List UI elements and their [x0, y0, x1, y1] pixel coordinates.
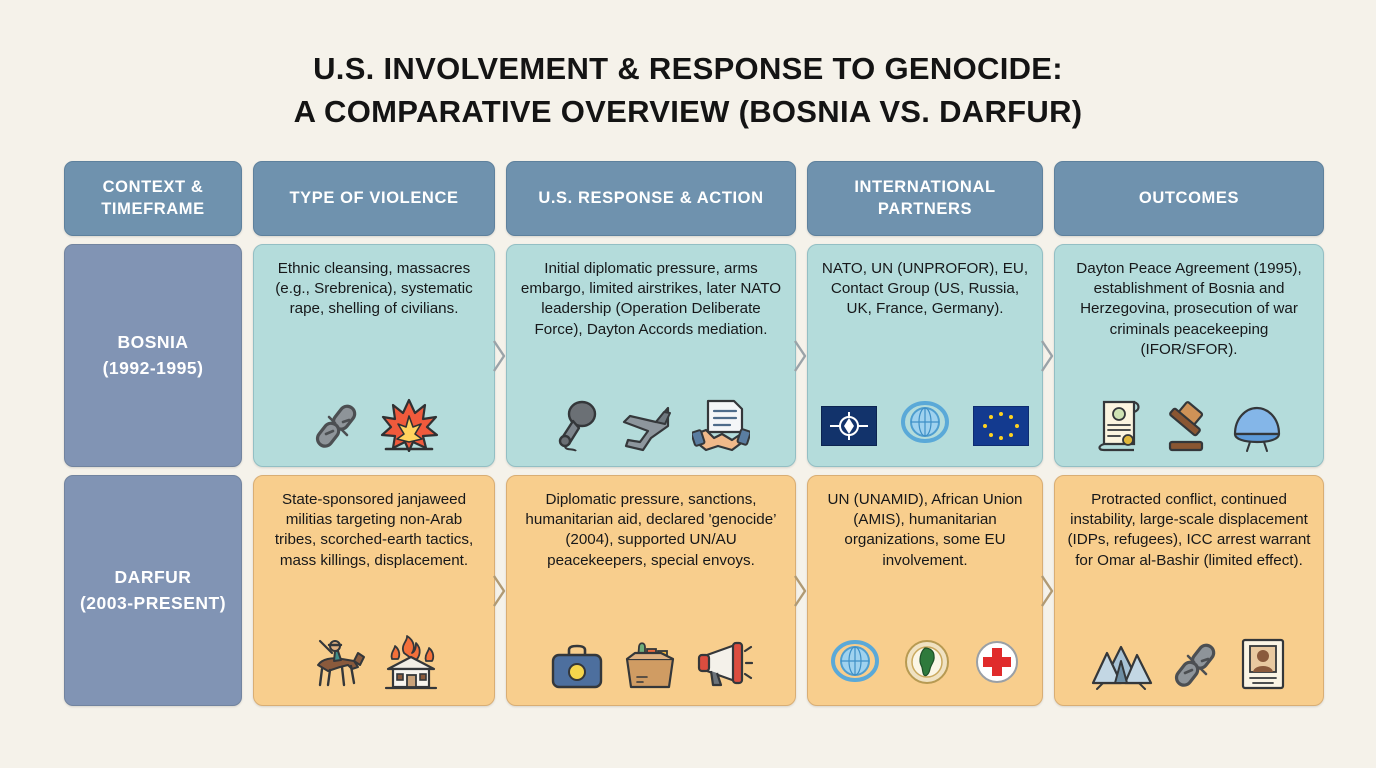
cell-darfur-outcomes-icons: [1091, 637, 1287, 695]
column-header-outcomes: Outcomes: [1054, 161, 1324, 236]
column-header-context-timeframe: Context & Timeframe: [64, 161, 242, 236]
broken-chain-icon: [310, 400, 364, 452]
refugee-tents-icon: [1091, 641, 1153, 691]
flow-arrow-icon: [1040, 339, 1054, 373]
title-line-1: U.S. Involvement & Response to Genocide:: [60, 48, 1316, 91]
cell-darfur-international-partners-text: UN (UNAMID), African Union (AMIS), human…: [818, 490, 1032, 571]
nato-flag-icon: [821, 406, 877, 446]
cell-bosnia-us-response: Initial diplomatic pressure, arms embarg…: [506, 244, 796, 467]
cell-darfur-international-partners: UN (UNAMID), African Union (AMIS), human…: [807, 475, 1043, 706]
cell-darfur-outcomes-text: Protracted conflict, continued instabili…: [1065, 490, 1313, 571]
scroll-certificate-icon: [1094, 398, 1144, 452]
row-label-darfur-years: (2003-PRESENT): [80, 591, 226, 616]
cell-darfur-type-of-violence: State-sponsored janjaweed militias targe…: [253, 475, 495, 706]
african-union-emblem-icon: [903, 639, 951, 685]
comparison-table: Context & Timeframe Type of Violence U.S…: [64, 161, 1312, 714]
flow-arrow-icon: [793, 574, 807, 608]
cell-bosnia-type-of-violence: Ethnic cleansing, massacres (e.g., Srebr…: [253, 244, 495, 467]
eu-flag-icon: [973, 406, 1029, 446]
cell-bosnia-outcomes: Dayton Peace Agreement (1995), establish…: [1054, 244, 1324, 467]
microphone-icon: [552, 398, 602, 452]
table-header-row: Context & Timeframe Type of Violence U.S…: [64, 161, 1312, 236]
cell-bosnia-type-of-violence-icons: [310, 398, 438, 456]
cell-darfur-us-response-icons: [549, 637, 753, 695]
cell-bosnia-outcomes-icons: [1094, 398, 1284, 456]
flow-arrow-icon: [492, 574, 506, 608]
cell-bosnia-outcomes-text: Dayton Peace Agreement (1995), establish…: [1065, 259, 1313, 360]
title-line-2: A Comparative Overview (Bosnia vs. Darfu…: [60, 91, 1316, 134]
cell-bosnia-us-response-icons: [552, 398, 750, 456]
cell-darfur-us-response-text: Diplomatic pressure, sanctions, humanita…: [517, 490, 785, 571]
flow-arrow-icon: [492, 339, 506, 373]
table-row-bosnia: BOSNIA (1992-1995) Ethnic cleansing, mas…: [64, 244, 1312, 467]
cell-bosnia-international-partners-text: NATO, UN (UNPROFOR), EU, Contact Group (…: [818, 259, 1032, 320]
aid-box-icon: [621, 637, 679, 691]
broken-chain-icon: [1169, 639, 1223, 691]
red-cross-icon: [973, 639, 1021, 685]
cell-bosnia-us-response-text: Initial diplomatic pressure, arms embarg…: [517, 259, 785, 340]
briefcase-icon: [549, 641, 605, 691]
cell-darfur-us-response: Diplomatic pressure, sanctions, humanita…: [506, 475, 796, 706]
cell-darfur-type-of-violence-text: State-sponsored janjaweed militias targe…: [264, 490, 484, 571]
row-label-bosnia-name: BOSNIA: [103, 330, 204, 355]
megaphone-icon: [695, 639, 753, 691]
infographic-page: U.S. Involvement & Response to Genocide:…: [0, 0, 1376, 768]
cell-darfur-type-of-violence-icons: [308, 635, 440, 695]
burning-house-icon: [382, 635, 440, 691]
cell-bosnia-type-of-violence-text: Ethnic cleansing, massacres (e.g., Srebr…: [264, 259, 484, 320]
cell-darfur-partners-icons: [829, 639, 1021, 695]
cell-darfur-outcomes: Protracted conflict, continued instabili…: [1054, 475, 1324, 706]
document-handshake-icon: [692, 398, 750, 452]
un-emblem-icon: [829, 639, 881, 685]
column-header-type-of-violence: Type of Violence: [253, 161, 495, 236]
un-emblem-icon: [899, 400, 951, 446]
flow-arrow-icon: [1040, 574, 1054, 608]
row-label-darfur-name: DARFUR: [80, 565, 226, 590]
row-label-bosnia-years: (1992-1995): [103, 356, 204, 381]
column-header-international-partners: International Partners: [807, 161, 1043, 236]
fighter-jet-icon: [618, 400, 676, 452]
un-helmet-icon: [1230, 402, 1284, 452]
row-label-darfur: DARFUR (2003-PRESENT): [64, 475, 242, 706]
horseman-militia-icon: [308, 635, 366, 691]
wanted-poster-icon: [1239, 637, 1287, 691]
page-title: U.S. Involvement & Response to Genocide:…: [0, 0, 1376, 134]
flow-arrow-icon: [793, 339, 807, 373]
row-label-bosnia: BOSNIA (1992-1995): [64, 244, 242, 467]
explosion-icon: [380, 398, 438, 452]
table-row-darfur: DARFUR (2003-PRESENT) State-sponsored ja…: [64, 475, 1312, 706]
column-header-us-response-action: U.S. Response & Action: [506, 161, 796, 236]
cell-bosnia-partners-icons: [821, 400, 1029, 456]
gavel-icon: [1160, 400, 1214, 452]
cell-bosnia-international-partners: NATO, UN (UNPROFOR), EU, Contact Group (…: [807, 244, 1043, 467]
